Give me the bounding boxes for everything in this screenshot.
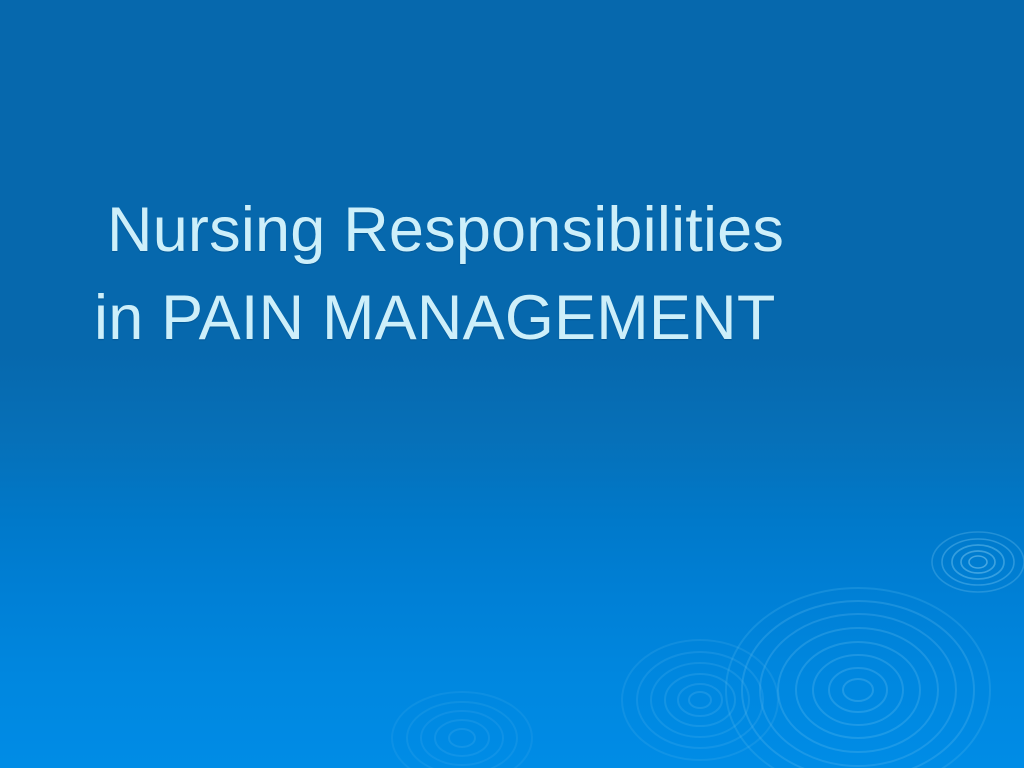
slide-title-line-1: Nursing Responsibilities	[90, 186, 950, 274]
slide-title: Nursing Responsibilities in PAIN MANAGEM…	[90, 186, 950, 362]
ripple-medium-bottom-center-icon	[600, 620, 800, 768]
ripple-large-bottom-right-icon	[708, 570, 1008, 768]
water-ripple-decoration-layer	[0, 0, 1024, 768]
slide-title-line-2: in PAIN MANAGEMENT	[90, 274, 950, 362]
ripple-small-bottom-center-icon	[367, 668, 557, 768]
title-slide: Nursing Responsibilities in PAIN MANAGEM…	[0, 0, 1024, 768]
ripple-small-top-right-icon	[908, 512, 1024, 612]
